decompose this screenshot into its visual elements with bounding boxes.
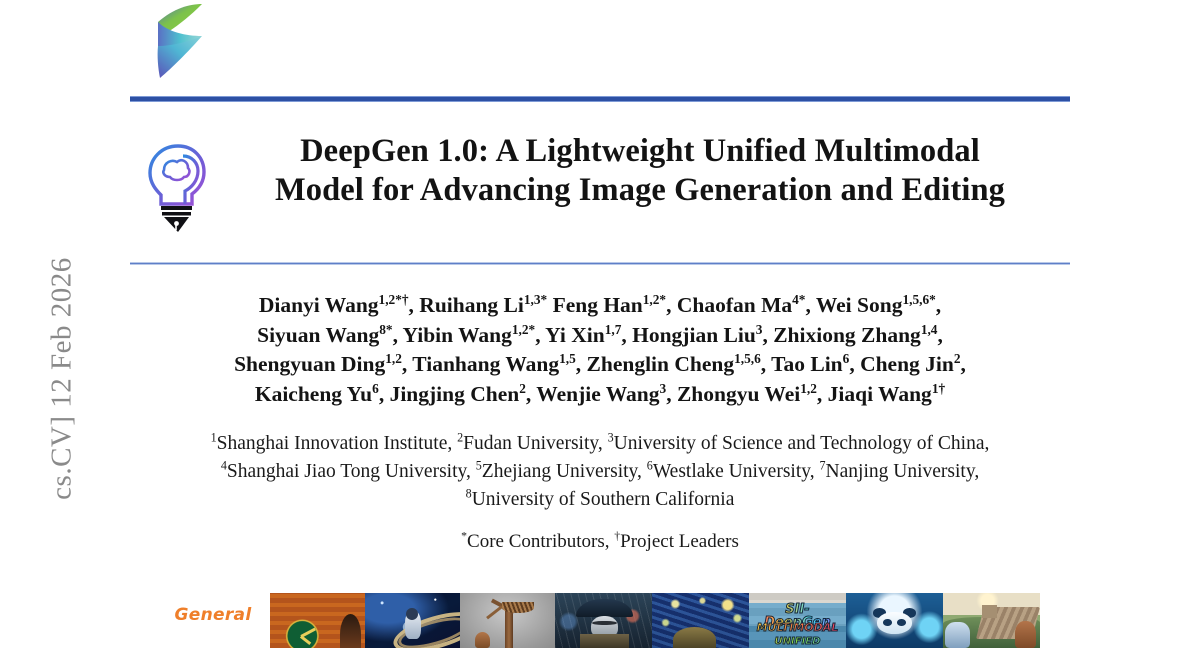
author-name: Siyuan Wang (257, 323, 379, 347)
author-entry: Tao Lin6 (771, 352, 849, 376)
teaser-tile-starry-night-painting (652, 593, 749, 648)
author-affiliation-marker: 6 (372, 380, 379, 395)
affiliation-name: Fudan University (463, 433, 598, 454)
header-rule-thick (130, 96, 1070, 102)
arxiv-stamp: cs.CV] 12 Feb 2026 (46, 169, 79, 589)
author-affiliation-marker: 1,7 (605, 321, 622, 336)
affiliation-name: University of Southern California (472, 489, 735, 510)
teaser-tile-raccoon-umbrella-rain (555, 593, 652, 648)
affiliation-line: 1Shanghai Innovation Institute, 2Fudan U… (130, 430, 1070, 458)
author-affiliation-marker: 6 (843, 351, 850, 366)
affiliation-list: 1Shanghai Innovation Institute, 2Fudan U… (130, 430, 1070, 514)
author-name: Tao Lin (771, 352, 843, 376)
contributor-note: *Core Contributors, †Project Leaders (130, 531, 1070, 553)
author-entry: Jingjing Chen2 (390, 382, 526, 406)
lightbulb-brain-pen-icon (142, 138, 216, 236)
teaser-image-strip: SII-DeepGen MULTIMODAL UNIFIED (270, 593, 1040, 648)
author-name: Dianyi Wang (259, 293, 379, 317)
affiliation-entry: 7Nanjing University (820, 461, 975, 482)
author-entry: Zhongyu Wei1,2 (677, 382, 817, 406)
author-line: Siyuan Wang8*, Yibin Wang1,2*, Yi Xin1,7… (130, 321, 1070, 351)
author-entry: Hongjian Liu3 (632, 323, 762, 347)
author-line: Kaicheng Yu6, Jingjing Chen2, Wenjie Wan… (130, 380, 1070, 410)
sii-ribbon-logo-icon (146, 2, 210, 82)
affiliation-entry: 4Shanghai Jiao Tong University (221, 461, 466, 482)
author-entry: Jiaqi Wang1† (828, 382, 946, 406)
author-list: Dianyi Wang1,2*†, Ruihang Li1,3* Feng Ha… (130, 291, 1070, 409)
author-affiliation-marker: 2 (954, 351, 961, 366)
author-name: Chaofan Ma (677, 293, 792, 317)
author-entry: Tianhang Wang1,5 (412, 352, 575, 376)
author-entry: Zhenglin Cheng1,5,6 (587, 352, 761, 376)
core-contrib-label: Core Contributors, (467, 531, 614, 552)
project-leader-label: Project Leaders (620, 531, 739, 552)
paper-page: DeepGen 1.0: A Lightweight Unified Multi… (130, 0, 1070, 648)
affiliation-name: Zhejiang University (482, 461, 637, 482)
author-affiliation-marker: 1,3* (524, 292, 547, 307)
author-name: Wenjie Wang (536, 382, 659, 406)
affiliation-name: Shanghai Innovation Institute (217, 433, 448, 454)
author-name: Jingjing Chen (390, 382, 520, 406)
author-affiliation-marker: 1,2* (643, 292, 666, 307)
teaser-tile-great-wall-creatures (943, 593, 1040, 648)
teaser-tile-astronaut-saturn (365, 593, 460, 648)
affiliation-entry: 6Westlake University (647, 461, 810, 482)
author-name: Hongjian Liu (632, 323, 756, 347)
affiliation-name: University of Science and Technology of … (614, 433, 985, 454)
author-line: Shengyuan Ding1,2, Tianhang Wang1,5, Zhe… (130, 350, 1070, 380)
author-affiliation-marker: 2 (519, 380, 526, 395)
author-entry: Chaofan Ma4* (677, 293, 806, 317)
author-line: Dianyi Wang1,2*†, Ruihang Li1,3* Feng Ha… (130, 291, 1070, 321)
author-entry: Kaicheng Yu6 (255, 382, 379, 406)
author-affiliation-marker: 4* (792, 292, 805, 307)
author-name: Zhixiong Zhang (773, 323, 921, 347)
graffiti-line-3: UNIFIED (753, 637, 842, 647)
graffiti-line-2: MULTIMODAL (753, 622, 842, 633)
author-entry: Zhixiong Zhang1,4 (773, 323, 937, 347)
author-affiliation-marker: 1,5,6* (902, 292, 935, 307)
author-entry: Yibin Wang1,2* (403, 323, 536, 347)
author-entry: Feng Han1,2* (553, 293, 667, 317)
author-entry: Wenjie Wang3 (536, 382, 666, 406)
author-affiliation-marker: 1,5 (559, 351, 576, 366)
author-entry: Shengyuan Ding1,2 (234, 352, 402, 376)
affiliation-name: Nanjing University (826, 461, 975, 482)
page-title: DeepGen 1.0: A Lightweight Unified Multi… (212, 132, 1068, 210)
teaser-row-label: General (158, 605, 268, 625)
author-name: Kaicheng Yu (255, 382, 372, 406)
affiliation-line: 8University of Southern California (130, 486, 1070, 514)
affiliation-entry: 8University of Southern California (466, 489, 735, 510)
author-affiliation-marker: 1,4 (921, 321, 938, 336)
title-line-2: Model for Advancing Image Generation and… (212, 171, 1068, 210)
affiliation-entry: 2Fudan University (457, 433, 598, 454)
author-entry: Siyuan Wang8* (257, 323, 392, 347)
author-name: Yibin Wang (403, 323, 512, 347)
teaser-tile-ice-panda (846, 593, 943, 648)
teaser-figure: General (130, 585, 1070, 648)
affiliation-entry: 1Shanghai Innovation Institute (211, 433, 448, 454)
author-affiliation-marker: 1,2*† (379, 292, 409, 307)
author-affiliation-marker: 8* (379, 321, 392, 336)
author-name: Wei Song (816, 293, 903, 317)
affiliation-line: 4Shanghai Jiao Tong University, 5Zhejian… (130, 458, 1070, 486)
author-entry: Wei Song1,5,6* (816, 293, 936, 317)
teaser-tile-clock-brick-tower (270, 593, 365, 648)
affiliation-name: Shanghai Jiao Tong University (227, 461, 466, 482)
teaser-tile-graffiti-wall: SII-DeepGen MULTIMODAL UNIFIED (749, 593, 846, 648)
author-affiliation-marker: 1,5,6 (734, 351, 761, 366)
affiliation-name: Westlake University (653, 461, 810, 482)
author-name: Ruihang Li (419, 293, 524, 317)
author-name: Feng Han (553, 293, 643, 317)
author-affiliation-marker: 1,2* (512, 321, 535, 336)
teaser-tile-bird-nest-branch (460, 593, 555, 648)
author-affiliation-marker: 1,2 (385, 351, 402, 366)
author-entry: Yi Xin1,7 (545, 323, 621, 347)
affiliation-entry: 3University of Science and Technology of… (608, 433, 985, 454)
author-affiliation-marker: 1,2 (800, 380, 817, 395)
author-affiliation-marker: 3 (660, 380, 667, 395)
author-affiliation-marker: 1† (932, 380, 945, 395)
title-line-1: DeepGen 1.0: A Lightweight Unified Multi… (300, 133, 980, 169)
author-name: Yi Xin (545, 323, 605, 347)
author-entry: Ruihang Li1,3* (419, 293, 547, 317)
author-entry: Dianyi Wang1,2*† (259, 293, 409, 317)
author-entry: Cheng Jin2 (860, 352, 960, 376)
author-name: Cheng Jin (860, 352, 954, 376)
title-block: DeepGen 1.0: A Lightweight Unified Multi… (130, 132, 1070, 242)
author-name: Shengyuan Ding (234, 352, 385, 376)
author-name: Jiaqi Wang (828, 382, 932, 406)
header-rule-thin (130, 262, 1070, 265)
affiliation-entry: 5Zhejiang University (476, 461, 637, 482)
author-name: Tianhang Wang (412, 352, 559, 376)
author-affiliation-marker: 3 (756, 321, 763, 336)
author-name: Zhongyu Wei (677, 382, 800, 406)
author-name: Zhenglin Cheng (587, 352, 735, 376)
